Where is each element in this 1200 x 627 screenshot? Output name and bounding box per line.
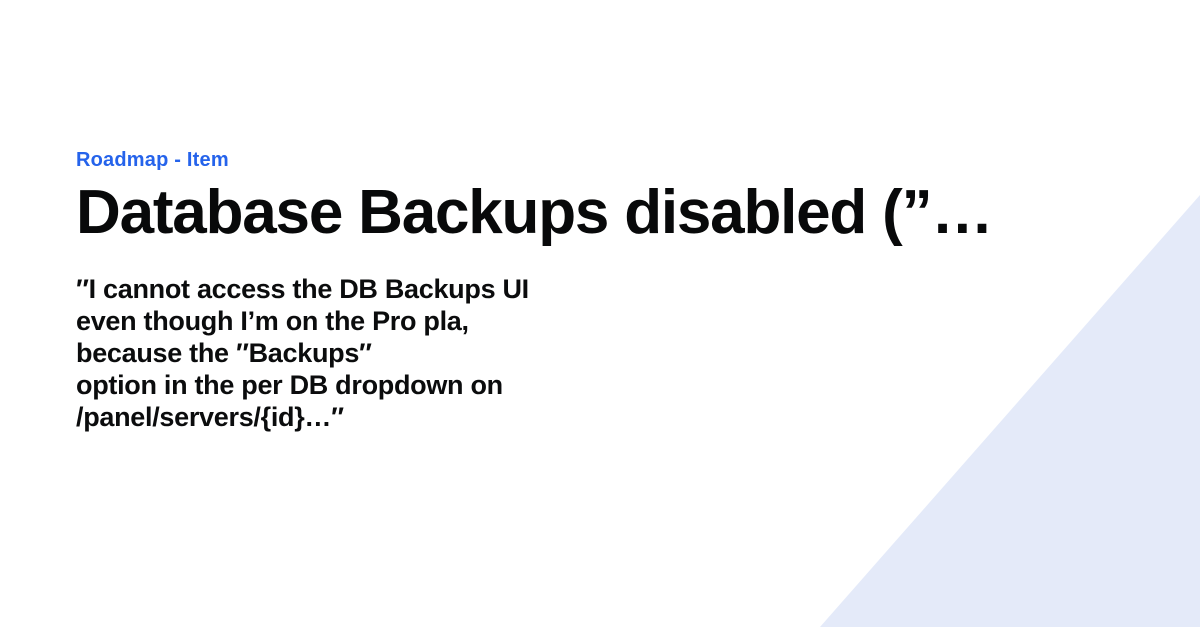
- breadcrumb-eyebrow: Roadmap - Item: [76, 148, 1136, 172]
- excerpt-line: even though I’m on the Pro pla,: [76, 305, 1136, 337]
- excerpt-line: ″I cannot access the DB Backups UI: [76, 273, 1136, 305]
- excerpt-quote: ″I cannot access the DB Backups UI even …: [76, 273, 1136, 433]
- page-title: Database Backups disabled (”…: [76, 180, 1136, 247]
- excerpt-line: option in the per DB dropdown on: [76, 369, 1136, 401]
- excerpt-line: /panel/servers/{id}…″: [76, 401, 1136, 433]
- og-share-card: Roadmap - Item Database Backups disabled…: [0, 0, 1200, 627]
- card-content: Roadmap - Item Database Backups disabled…: [76, 148, 1136, 433]
- excerpt-line: because the ″Backups″: [76, 337, 1136, 369]
